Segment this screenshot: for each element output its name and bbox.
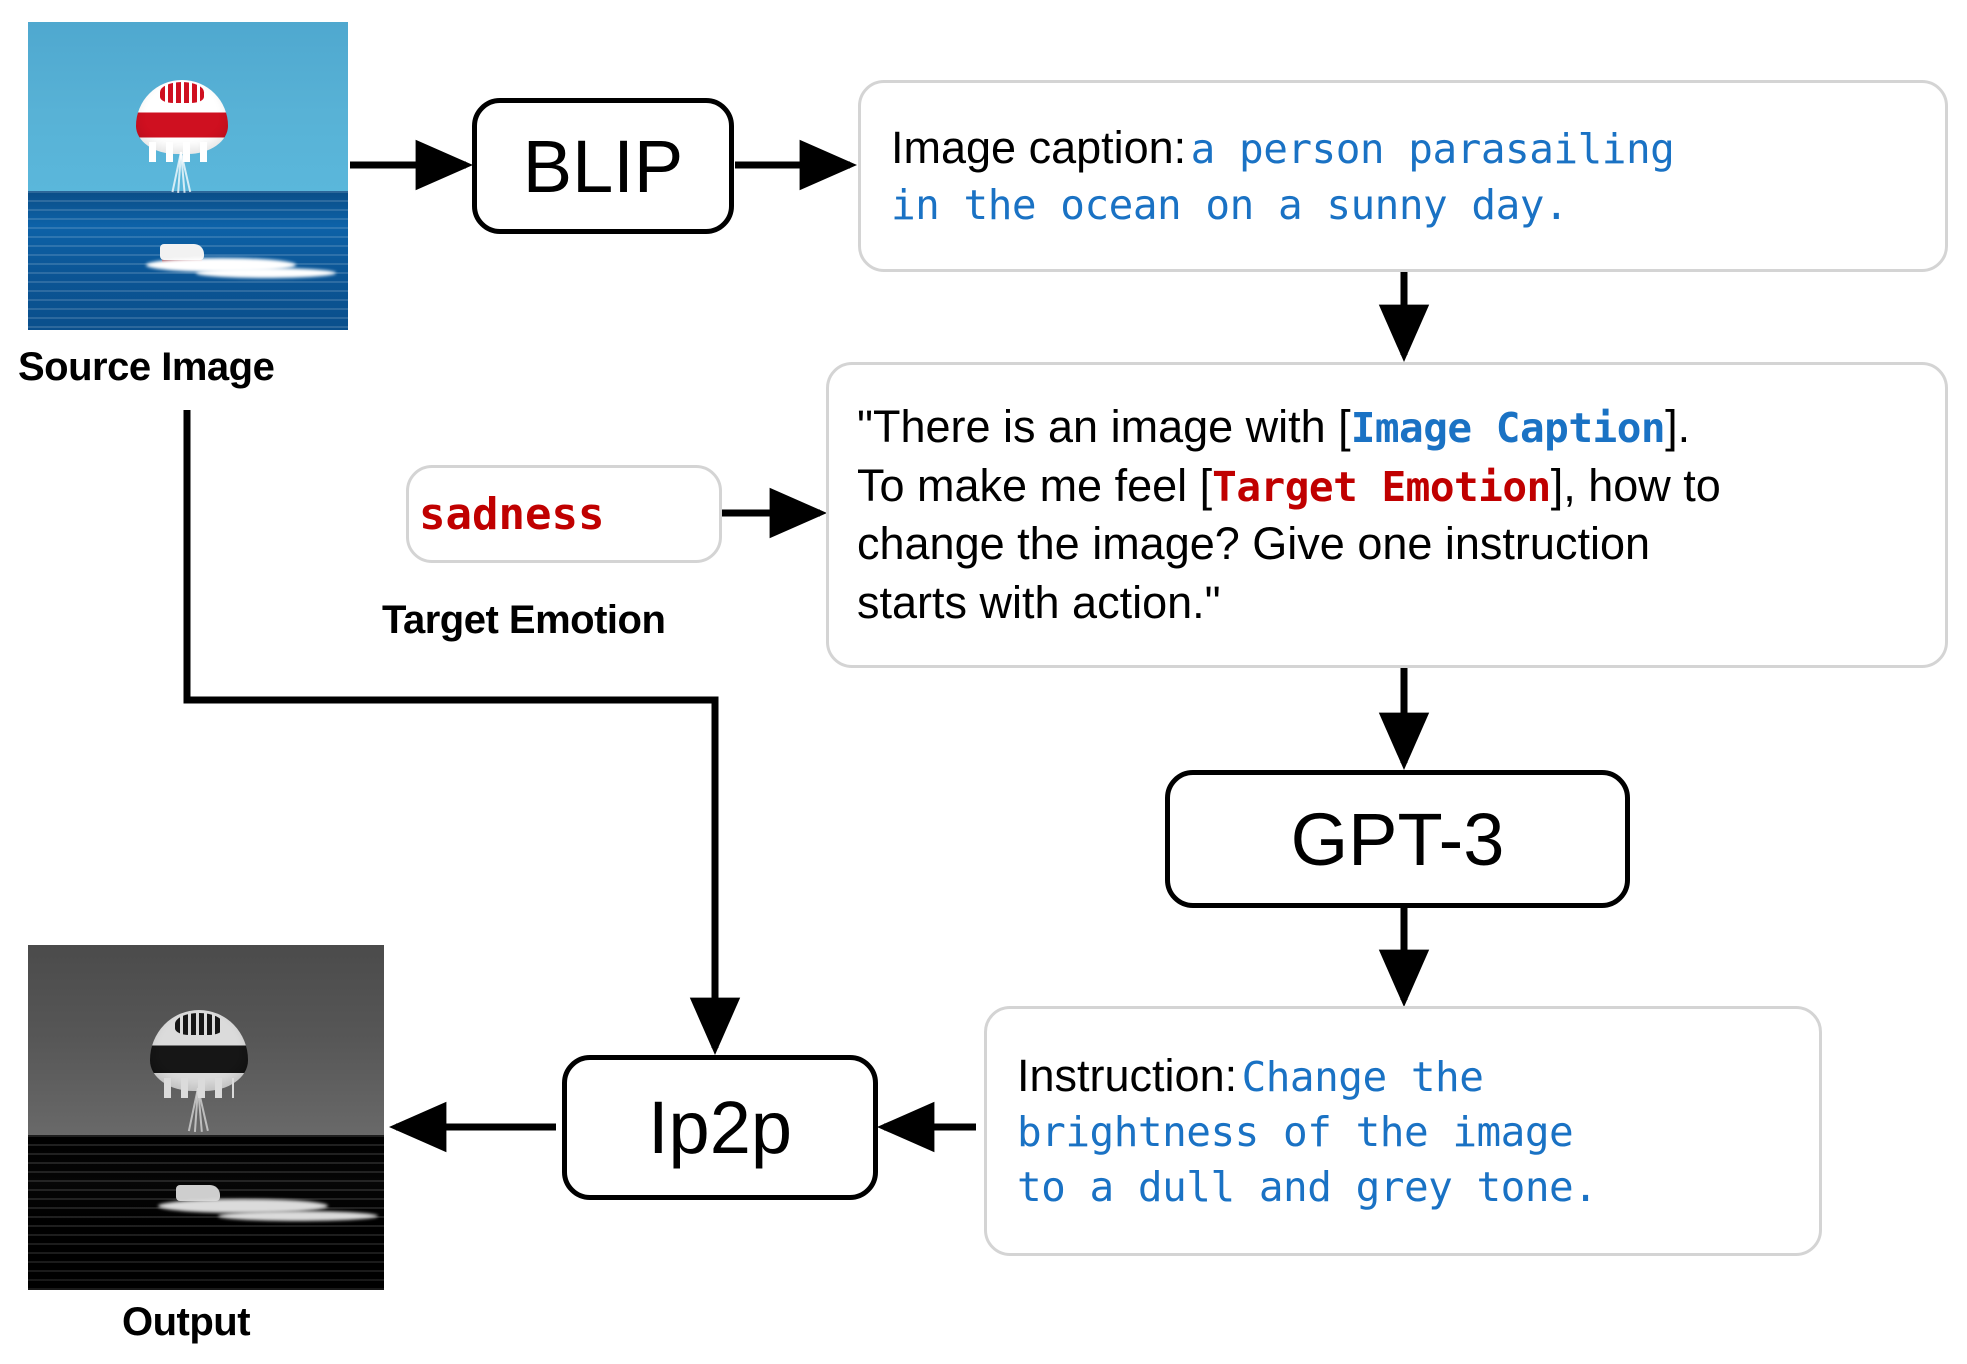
source-image bbox=[28, 22, 348, 330]
source-image-label: Source Image bbox=[18, 345, 274, 390]
ip2p-box[interactable]: Ip2p bbox=[562, 1055, 878, 1200]
instruction-prefix: Instruction: bbox=[1017, 1050, 1237, 1101]
output-image bbox=[28, 945, 384, 1290]
gpt3-label: GPT-3 bbox=[1291, 797, 1505, 882]
instruction-value-line3: to a dull and grey tone. bbox=[1017, 1163, 1597, 1211]
prompt-seg1: "There is an image with [ bbox=[857, 401, 1351, 452]
prompt-template-box: "There is an image with [Image Caption].… bbox=[826, 362, 1948, 668]
caption-value-line1: a person parasailing bbox=[1191, 125, 1675, 173]
prompt-seg5: change the image? Give one instruction bbox=[857, 518, 1650, 569]
target-emotion-value: sadness bbox=[419, 489, 604, 540]
blip-box[interactable]: BLIP bbox=[472, 98, 734, 234]
source-wake-tail bbox=[196, 268, 336, 278]
prompt-seg4: ], how to bbox=[1551, 460, 1721, 511]
caption-value-line2: in the ocean on a sunny day. bbox=[891, 181, 1568, 229]
prompt-seg2: ]. bbox=[1665, 401, 1690, 452]
target-emotion-box[interactable]: sadness bbox=[406, 465, 722, 563]
prompt-slot-image-caption: Image Caption bbox=[1351, 404, 1665, 452]
gpt3-box[interactable]: GPT-3 bbox=[1165, 770, 1630, 908]
caption-prefix: Image caption: bbox=[891, 122, 1186, 173]
prompt-seg6: starts with action." bbox=[857, 577, 1221, 628]
image-caption-box: Image caption: a person parasailing in t… bbox=[858, 80, 1948, 272]
output-wake-tail bbox=[218, 1211, 378, 1221]
output-parachute bbox=[150, 1010, 248, 1140]
diagram-canvas: Source Image BLIP Image caption: a perso… bbox=[0, 0, 1967, 1364]
source-parachute bbox=[136, 80, 228, 200]
prompt-seg3: To make me feel [ bbox=[857, 460, 1212, 511]
output-image-label: Output bbox=[122, 1300, 250, 1345]
instruction-value-line1: Change the bbox=[1242, 1053, 1484, 1101]
blip-label: BLIP bbox=[523, 124, 683, 209]
ip2p-label: Ip2p bbox=[648, 1085, 792, 1170]
instruction-box: Instruction: Change the brightness of th… bbox=[984, 1006, 1822, 1256]
prompt-slot-target-emotion: Target Emotion bbox=[1212, 463, 1551, 511]
target-emotion-label: Target Emotion bbox=[382, 598, 665, 643]
instruction-value-line2: brightness of the image bbox=[1017, 1108, 1573, 1156]
